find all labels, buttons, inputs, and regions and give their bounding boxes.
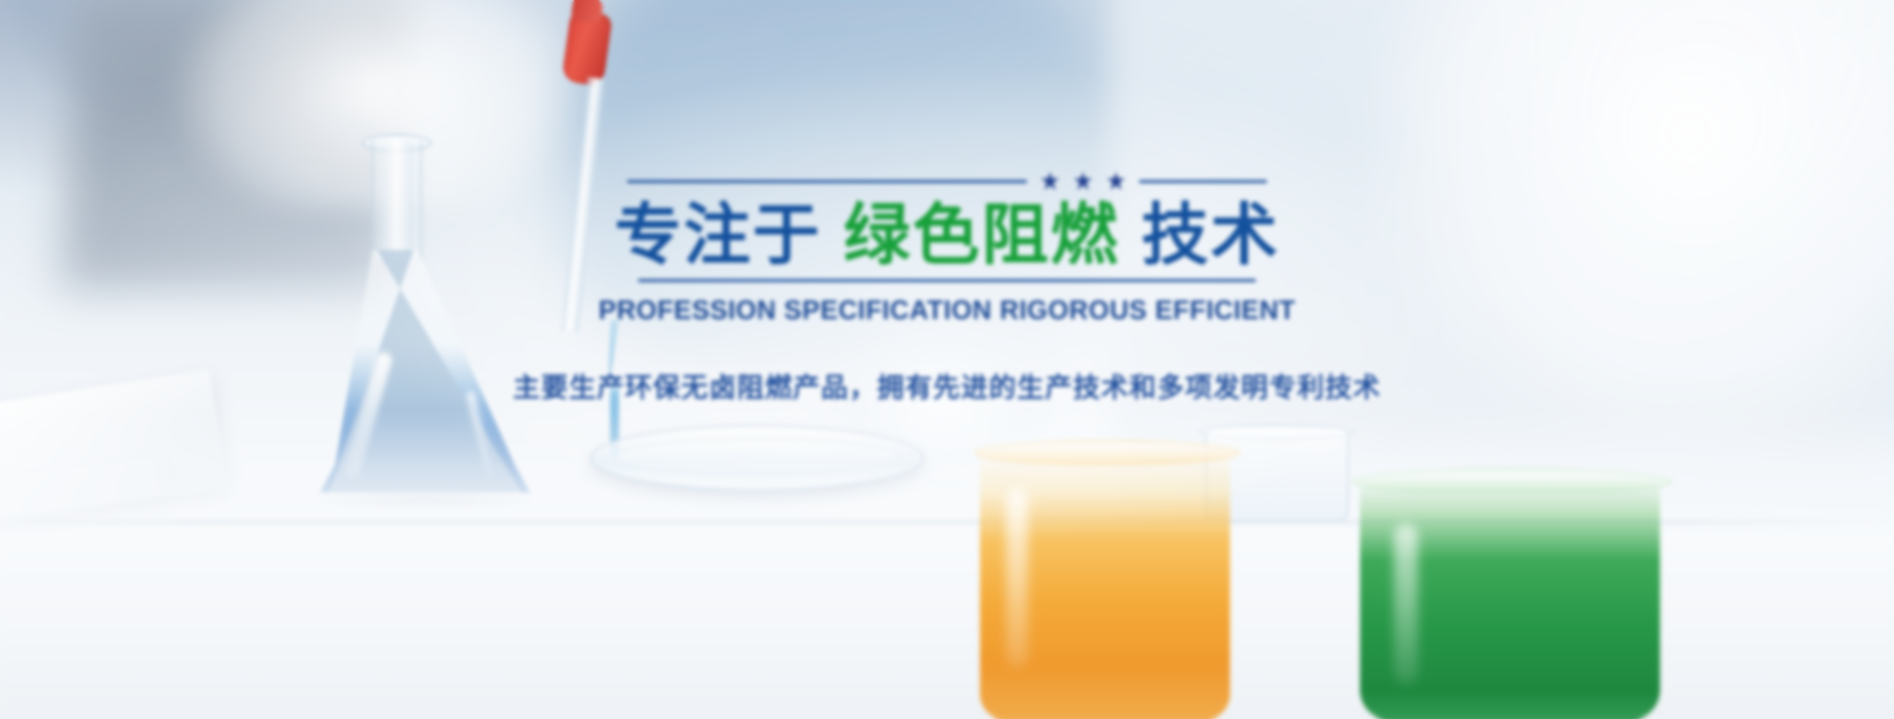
decorative-line-left	[627, 180, 1027, 183]
star-icon	[1041, 172, 1059, 190]
chinese-tagline: 主要生产环保无卤阻燃产品，拥有先进的生产技术和多项发明专利技术	[513, 366, 1381, 405]
headline-part-3: 技术	[1142, 201, 1280, 271]
beaker-orange-highlight	[1006, 488, 1028, 668]
headline-part-1: 专注于	[615, 201, 822, 271]
star-icon	[1074, 172, 1092, 190]
petri-dish	[590, 425, 924, 491]
beaker-green-rim	[1352, 468, 1672, 496]
petri-dish-inner	[614, 439, 900, 475]
page-title: 专注于 绿色阻燃 技术	[615, 201, 1280, 271]
hero-banner: 专注于 绿色阻燃 技术 PROFESSION SPECIFICATION RIG…	[0, 0, 1894, 719]
decorative-line-bottom	[638, 279, 1256, 282]
beaker-orange-solution	[980, 448, 1230, 719]
headline-part-2: 绿色阻燃	[844, 201, 1120, 271]
banner-content: 专注于 绿色阻燃 技术 PROFESSION SPECIFICATION RIG…	[0, 0, 1894, 405]
english-subtitle: PROFESSION SPECIFICATION RIGOROUS EFFICI…	[599, 295, 1296, 326]
star-group	[1041, 172, 1125, 190]
beaker-green-solution	[1360, 478, 1660, 719]
decorative-line-right	[1139, 180, 1267, 183]
beaker-green-highlight	[1394, 524, 1418, 684]
beaker-orange-rim	[974, 440, 1240, 466]
star-icon	[1107, 172, 1125, 190]
decorative-rule-with-stars	[627, 172, 1267, 190]
